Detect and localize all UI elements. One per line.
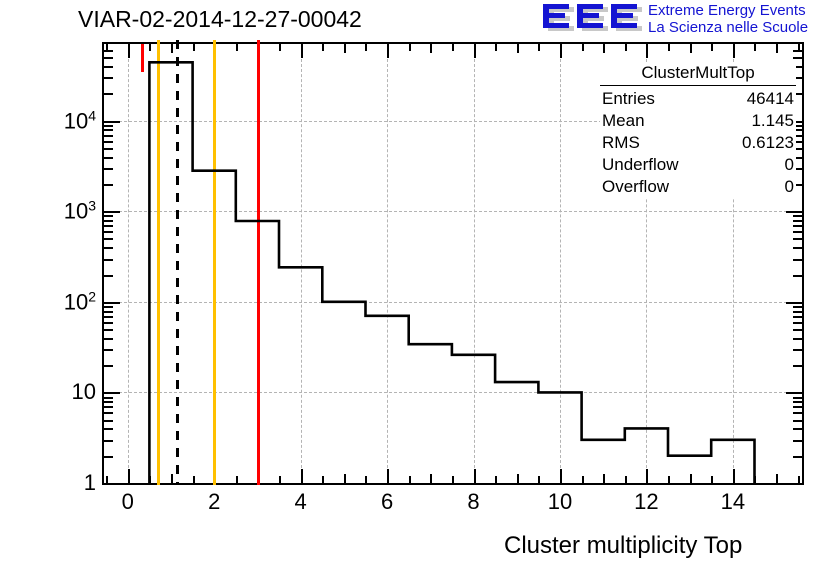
stats-row-key: Overflow: [602, 176, 669, 198]
x-tick-label: 2: [208, 489, 220, 515]
y-tick-label: 104: [64, 107, 96, 134]
stats-row: RMS0.6123: [600, 132, 796, 154]
page-title: VIAR-02-2014-12-27-00042: [78, 6, 362, 33]
stats-row-value: 0: [785, 176, 794, 198]
stats-row-key: Underflow: [602, 154, 679, 176]
stats-row: Entries46414: [600, 88, 796, 110]
x-tick-label: 0: [122, 489, 134, 515]
eee-logo-text: Extreme Energy Events La Scienza nelle S…: [648, 2, 808, 36]
x-tick-label: 6: [381, 489, 393, 515]
stats-row-key: RMS: [602, 132, 640, 154]
stats-row-value: 0.6123: [742, 132, 794, 154]
stats-row: Mean1.145: [600, 110, 796, 132]
stats-row: Overflow0: [600, 176, 796, 198]
stats-box: ClusterMultTop Entries46414Mean1.145RMS0…: [600, 62, 796, 198]
stats-row-key: Entries: [602, 88, 655, 110]
eee-logo-line1: Extreme Energy Events: [648, 2, 808, 19]
y-tick-label: 103: [64, 198, 96, 225]
x-tick-label: 8: [467, 489, 479, 515]
x-tick-label: 12: [634, 489, 658, 515]
x-tick-label: 10: [548, 489, 572, 515]
stats-row-key: Mean: [602, 110, 645, 132]
stats-title: ClusterMultTop: [600, 62, 796, 86]
eee-letters-icon: [540, 3, 644, 35]
eee-logo: Extreme Energy Events La Scienza nelle S…: [540, 2, 832, 38]
stats-row-value: 1.145: [751, 110, 794, 132]
y-tick-label: 1: [84, 470, 96, 496]
stats-row-value: 46414: [747, 88, 794, 110]
axis-tick-y: [104, 483, 120, 485]
y-tick-label: 10: [72, 379, 96, 405]
y-tick-label: 102: [64, 288, 96, 315]
x-axis-title: Cluster multiplicity Top: [504, 532, 742, 560]
stats-row-value: 0: [785, 154, 794, 176]
stats-row: Underflow0: [600, 154, 796, 176]
axis-tick-y: [786, 483, 802, 485]
plot-canvas: VIAR-02-2014-12-27-00042 Extreme Energy …: [0, 0, 836, 572]
x-tick-label: 14: [721, 489, 745, 515]
eee-logo-line2: La Scienza nelle Scuole: [648, 19, 808, 36]
x-tick-label: 4: [295, 489, 307, 515]
